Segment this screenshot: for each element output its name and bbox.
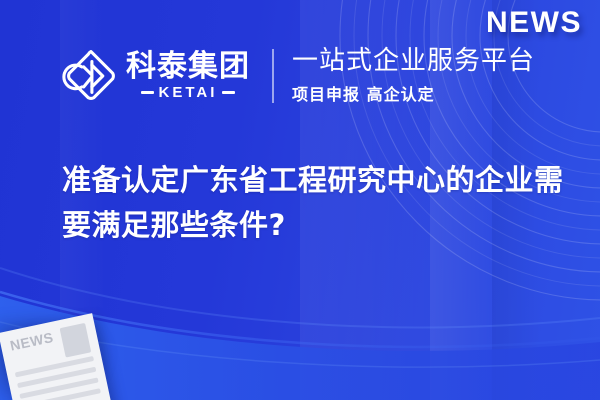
logo-name-en: KETAI (159, 84, 218, 101)
tagline-sub: 项目申报 高企认定 (292, 81, 535, 105)
logo-dash-left (141, 91, 154, 94)
logo-name-cn: 科泰集团 (126, 51, 250, 83)
news-banner: NEWS (0, 0, 600, 400)
ketai-diamond-kp-emblem (62, 47, 120, 105)
tagline-main: 一站式企业服务平台 (292, 47, 535, 76)
news-wordmark: NEWS (486, 6, 582, 40)
logo-dash-right (222, 91, 235, 94)
newspaper-text-lines (15, 356, 105, 400)
banner-header: 科泰集团 KETAI 一站式企业服务平台 项目申报 高企认定 (62, 40, 535, 112)
headline-text: 准备认定广东省工程研究中心的企业需要满足那些条件? (62, 158, 574, 248)
tagline-block: 一站式企业服务平台 项目申报 高企认定 (292, 47, 535, 104)
header-divider (272, 49, 274, 103)
brand-logo[interactable]: 科泰集团 KETAI (62, 47, 250, 105)
